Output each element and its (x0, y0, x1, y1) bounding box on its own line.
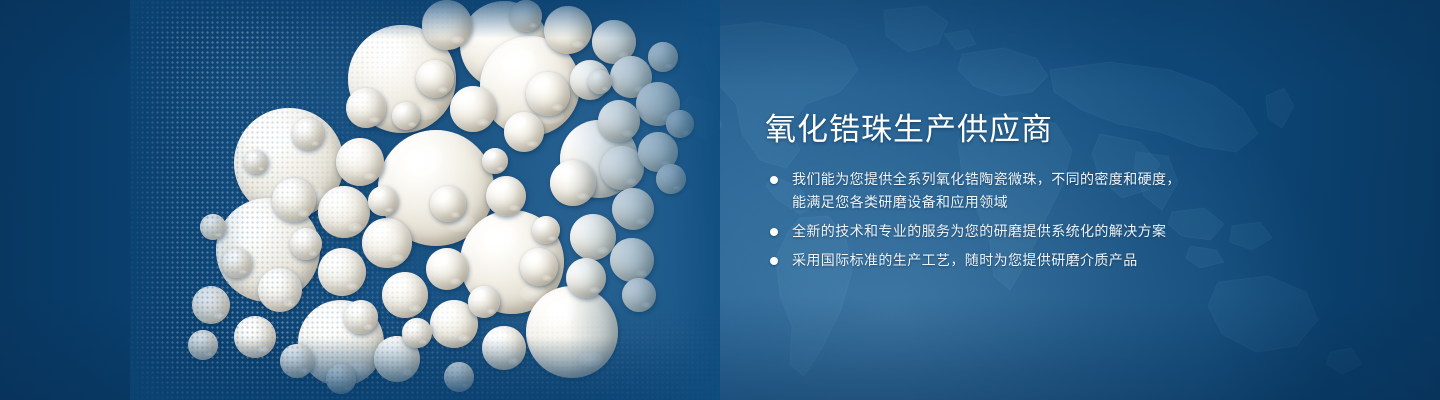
halftone-dot-pattern (130, 0, 720, 400)
bullet-dot-icon (770, 176, 778, 184)
bullet-dot-icon (770, 257, 778, 265)
list-item: 我们能为您提供全系列氧化锆陶瓷微珠，不同的密度和硬度， 能满足您各类研磨设备和应… (767, 168, 1237, 214)
list-item-line: 能满足您各类研磨设备和应用领域 (792, 191, 1237, 214)
banner-headline: 氧化锆珠生产供应商 (765, 111, 1053, 149)
hero-banner: 氧化锆珠生产供应商 我们能为您提供全系列氧化锆陶瓷微珠，不同的密度和硬度， 能满… (0, 0, 1440, 400)
zirconia-beads-photo (130, 0, 720, 400)
list-item-line: 我们能为您提供全系列氧化锆陶瓷微珠，不同的密度和硬度， (792, 168, 1237, 191)
list-item-line: 采用国际标准的生产工艺，随时为您提供研磨介质产品 (792, 249, 1237, 272)
list-item-line: 全新的技术和专业的服务为您的研磨提供系统化的解决方案 (792, 220, 1237, 243)
list-item: 全新的技术和专业的服务为您的研磨提供系统化的解决方案 (767, 220, 1237, 243)
list-item: 采用国际标准的生产工艺，随时为您提供研磨介质产品 (767, 249, 1237, 272)
bullet-dot-icon (770, 228, 778, 236)
banner-content: 氧化锆珠生产供应商 我们能为您提供全系列氧化锆陶瓷微珠，不同的密度和硬度， 能满… (765, 0, 1365, 400)
banner-feature-list: 我们能为您提供全系列氧化锆陶瓷微珠，不同的密度和硬度， 能满足您各类研磨设备和应… (767, 168, 1237, 272)
